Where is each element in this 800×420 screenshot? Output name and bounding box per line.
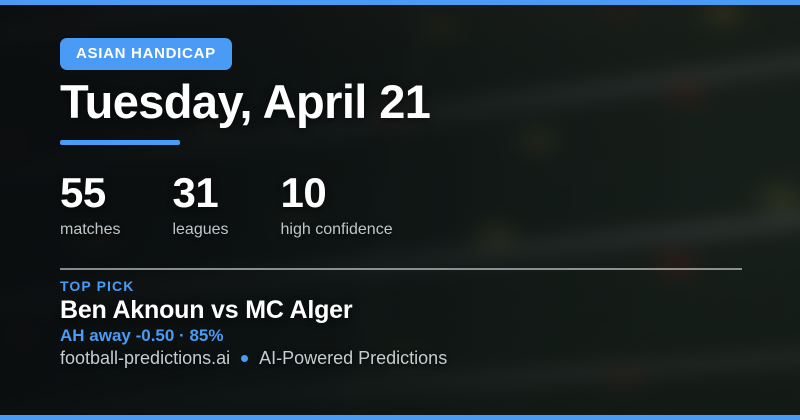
stat-matches-value: 55	[60, 172, 120, 214]
category-badge: ASIAN HANDICAP	[60, 38, 232, 70]
footer-site-name: football-predictions.ai	[60, 348, 230, 369]
prediction-promo-card: ASIAN HANDICAP Tuesday, April 21 55 matc…	[0, 0, 800, 420]
stat-matches: 55 matches	[60, 172, 120, 239]
footer-tagline: AI-Powered Predictions	[259, 348, 447, 369]
card-content: ASIAN HANDICAP Tuesday, April 21 55 matc…	[60, 0, 742, 420]
bullet-separator-icon	[241, 355, 248, 362]
top-pick-label: TOP PICK	[60, 278, 134, 294]
title-underline-rule	[60, 140, 180, 145]
stat-high-confidence: 10 high confidence	[281, 172, 393, 239]
top-pick-match: Ben Aknoun vs MC Alger	[60, 296, 352, 325]
stat-leagues: 31 leagues	[172, 172, 228, 239]
stat-leagues-label: leagues	[172, 221, 228, 239]
stats-row: 55 matches 31 leagues 10 high confidence	[60, 172, 393, 239]
footer: football-predictions.ai AI-Powered Predi…	[60, 348, 447, 369]
stat-leagues-value: 31	[172, 172, 228, 214]
stat-high-confidence-value: 10	[281, 172, 393, 214]
top-pick-detail: AH away -0.50 · 85%	[60, 326, 223, 346]
section-divider	[60, 268, 742, 270]
stat-high-confidence-label: high confidence	[281, 221, 393, 239]
stat-matches-label: matches	[60, 221, 120, 239]
page-title: Tuesday, April 21	[60, 74, 430, 129]
